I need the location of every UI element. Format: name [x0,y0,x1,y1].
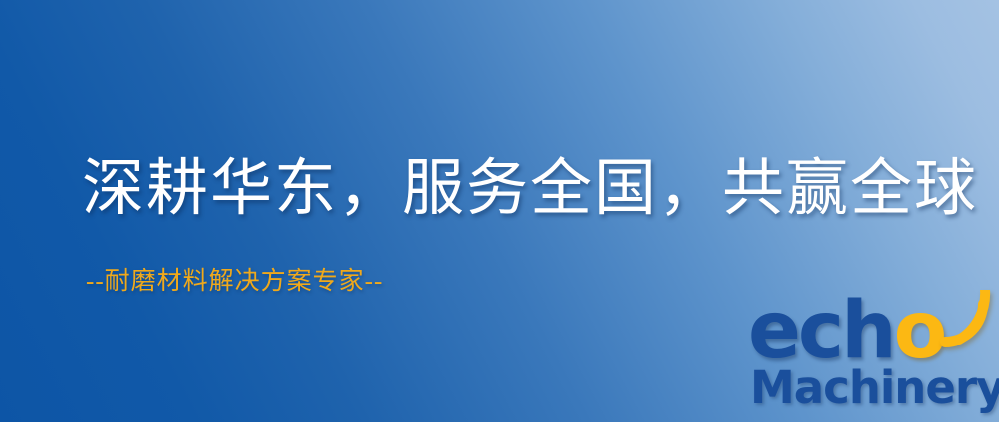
logo-tagline: Machinery [750,361,999,414]
company-logo: echo Machinery® [748,296,999,422]
banner-headline: 深耕华东，服务全国，共赢全球 [82,152,978,226]
logo-tagline-row: Machinery® [750,364,999,412]
logo-wordmark: echo [748,292,944,370]
banner-subheadline: --耐磨材料解决方案专家-- [86,266,383,298]
wifi-signal-icon [931,290,993,348]
promotional-banner: 深耕华东，服务全国，共赢全球 --耐磨材料解决方案专家-- echo Machi… [0,0,999,422]
